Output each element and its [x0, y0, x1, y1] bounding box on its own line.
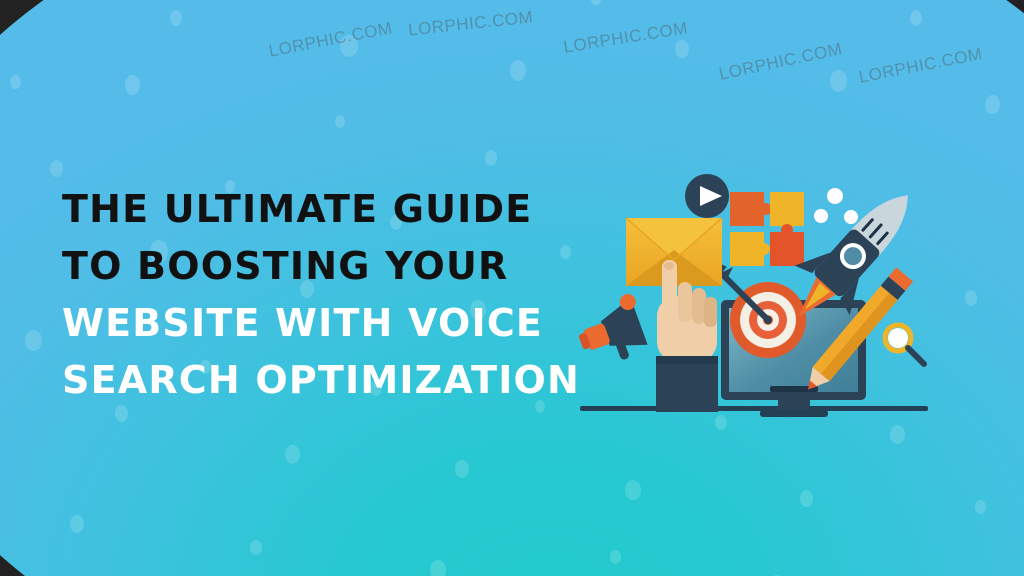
banner-root: LORPHIC.COM LORPHIC.COM LORPHIC.COM LORP… [0, 0, 1024, 576]
bubble-cluster-icon [814, 188, 858, 224]
megaphone-icon [578, 292, 653, 372]
headline-line-2: TO BOOSTING YOUR [62, 238, 582, 295]
headline-line-3: WEBSITE WITH VOICE [62, 295, 582, 352]
headline-line-4: SEARCH OPTIMIZATION [62, 352, 582, 409]
illustration [578, 160, 958, 430]
headline-block: THE ULTIMATE GUIDE TO BOOSTING YOUR WEBS… [62, 181, 582, 409]
headline-line-1: THE ULTIMATE GUIDE [62, 181, 582, 238]
ground-line [580, 406, 928, 411]
puzzle-pieces-icon [730, 192, 804, 266]
play-button-icon [685, 174, 729, 218]
magnifier-icon [885, 325, 924, 364]
